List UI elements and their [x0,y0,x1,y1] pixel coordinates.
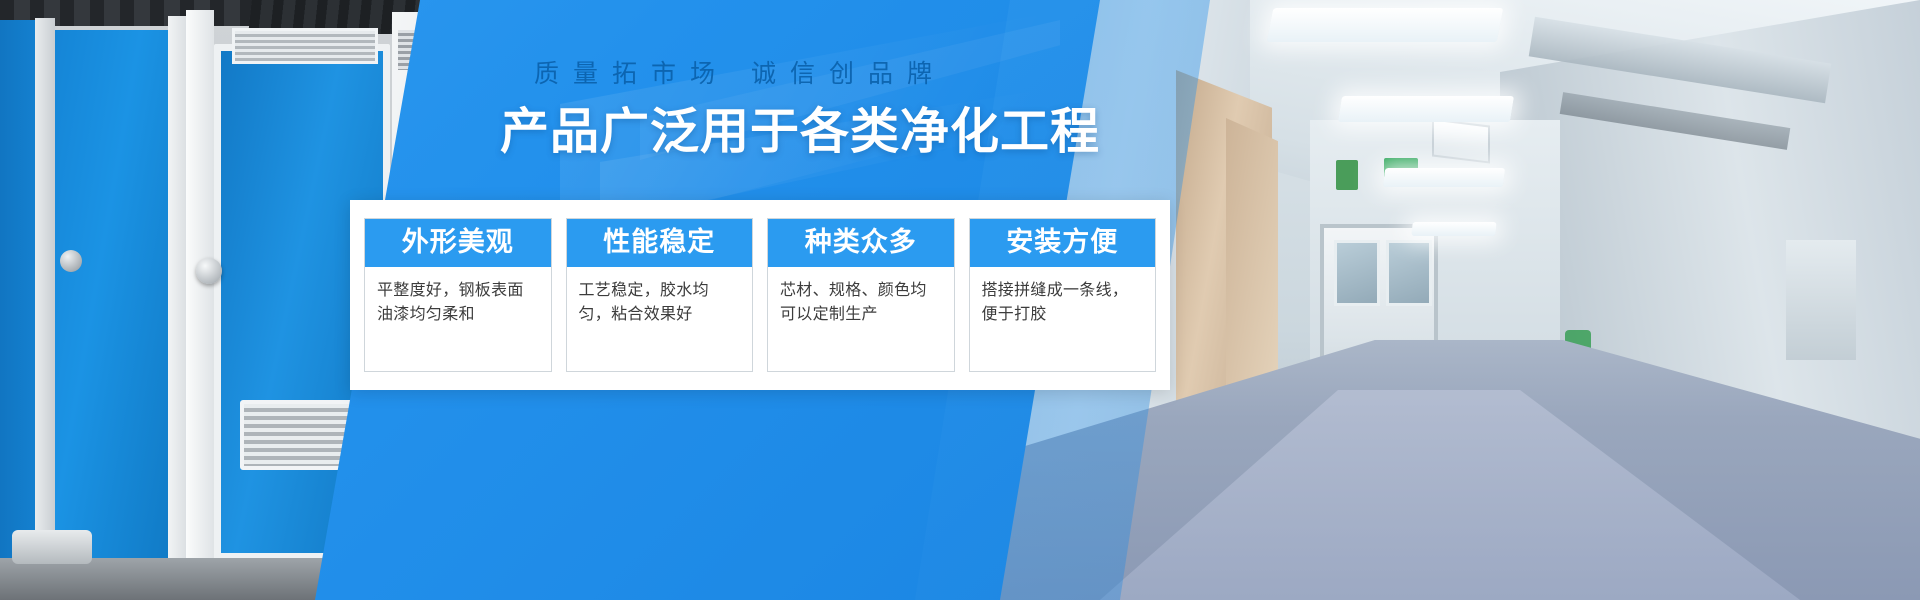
cabin-panel-blue-far-left [0,20,35,580]
ceiling-light-1 [1267,8,1504,42]
cabin-frame-left [35,18,55,578]
feature-card-title: 性能稳定 [567,219,753,267]
door-handle-icon [196,258,222,284]
banner-text-block: 质量拓市场诚信创品牌 产品广泛用于各类净化工程 [500,62,1100,159]
ceiling-light-2 [1338,96,1514,122]
door-window-left [1334,240,1380,306]
wall-notice-green [1336,160,1358,190]
feature-card-body: 搭接拼缝成一条线，便于打胶 [970,267,1156,327]
cabin-base-pipe [12,530,92,564]
feature-cards-panel: 外形美观 平整度好，钢板表面油漆均匀柔和 性能稳定 工艺稳定，胶水均匀，粘合效果… [350,200,1170,390]
door-window-right [1386,240,1432,306]
feature-card-body: 平整度好，钢板表面油漆均匀柔和 [365,267,551,327]
cabin-door-frame [186,10,214,585]
ceiling-light-4 [1411,222,1496,236]
banner-headline: 产品广泛用于各类净化工程 [500,107,1100,159]
feature-card-body: 芯材、规格、颜色均可以定制生产 [768,267,954,327]
feature-card-title: 种类众多 [768,219,954,267]
cabin-louver-top [232,28,378,64]
promo-banner: 质量拓市场诚信创品牌 产品广泛用于各类净化工程 外形美观 平整度好，钢板表面油漆… [0,0,1920,600]
banner-tagline: 质量拓市场诚信创品牌 [500,62,1100,87]
feature-card[interactable]: 安装方便 搭接拼缝成一条线，便于打胶 [969,218,1157,372]
feature-card-title: 外形美观 [365,219,551,267]
feature-card[interactable]: 种类众多 芯材、规格、颜色均可以定制生产 [767,218,955,372]
cabin-panel-blue [55,30,175,575]
feature-card-title: 安装方便 [970,219,1156,267]
feature-card-body: 工艺稳定，胶水均匀，粘合效果好 [567,267,753,327]
feature-card[interactable]: 外形美观 平整度好，钢板表面油漆均匀柔和 [364,218,552,372]
wall-sign-plate [1432,118,1490,163]
tagline-left-text: 质量拓市场 [534,60,729,88]
door-lock-icon [60,250,82,272]
ceiling-light-3 [1383,168,1505,187]
feature-card[interactable]: 性能稳定 工艺稳定，胶水均匀，粘合效果好 [566,218,754,372]
corridor-cabinet [1786,240,1856,360]
tagline-right-text: 诚信创品牌 [751,60,946,88]
